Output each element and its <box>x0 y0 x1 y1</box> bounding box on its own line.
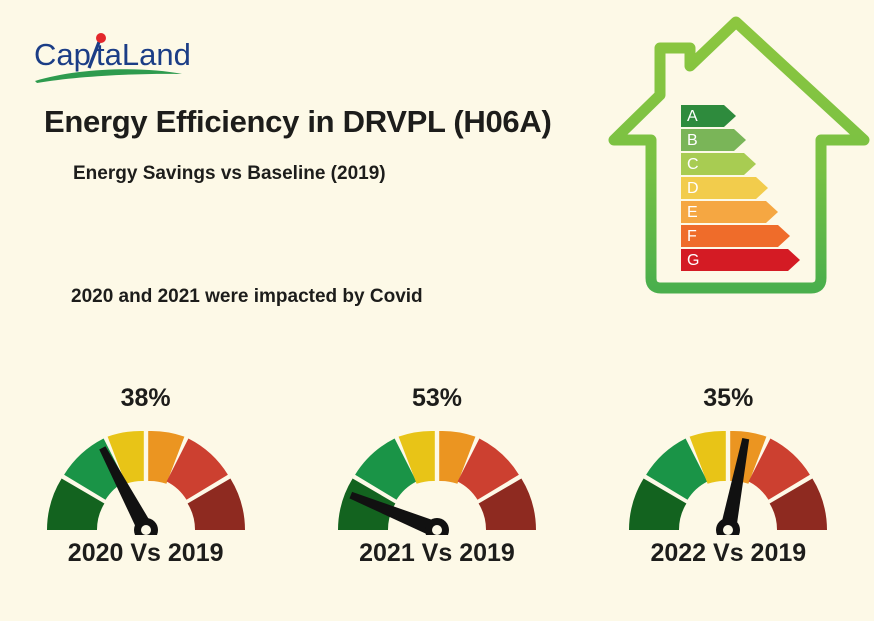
gauge-dial-2021 <box>330 425 544 535</box>
gauge-segments <box>338 431 536 530</box>
gauge-dial-2022 <box>621 425 835 535</box>
gauge-hub-center <box>432 525 442 535</box>
slide-canvas: Cap taLand Energy Efficiency in DRVPL (H… <box>0 0 874 621</box>
page-subtitle: Energy Savings vs Baseline (2019) <box>73 163 386 185</box>
grade-bar-g: G <box>681 249 800 271</box>
gauge-2022: 35% <box>583 386 873 568</box>
gauge-row: 38% <box>0 386 874 596</box>
grade-bar-f: F <box>681 225 790 247</box>
grade-letter-c: C <box>687 156 699 173</box>
grade-letter-a: A <box>687 108 698 125</box>
grade-letter-e: E <box>687 204 698 221</box>
grade-letter-f: F <box>687 228 697 245</box>
grade-bar-d: D <box>681 177 768 199</box>
energy-grade-bars: A B C D E <box>681 105 800 271</box>
grade-bar-c: C <box>681 153 756 175</box>
gauge-hub-center <box>141 525 151 535</box>
gauge-hub-center <box>723 525 733 535</box>
gauge-2021: 53% <box>292 386 582 568</box>
logo-dot-icon <box>96 33 106 43</box>
gauge-label-2020: 2020 Vs 2019 <box>68 539 224 568</box>
grade-letter-b: B <box>687 132 698 149</box>
gauge-value-2021: 53% <box>412 386 462 411</box>
grade-bar-e: E <box>681 201 778 223</box>
grade-letter-d: D <box>687 180 699 197</box>
gauge-value-2020: 38% <box>121 386 171 411</box>
energy-label-house-icon: A B C D E <box>608 16 870 304</box>
gauge-label-2021: 2021 Vs 2019 <box>359 539 515 568</box>
grade-letter-g: G <box>687 252 699 269</box>
logo-text-2: taLand <box>96 37 191 72</box>
logo-text: Cap <box>34 37 91 72</box>
grade-bar-a: A <box>681 105 736 127</box>
gauge-value-2022: 35% <box>703 386 753 411</box>
grade-bar-b: B <box>681 129 746 151</box>
capitaland-logo: Cap taLand <box>32 32 207 84</box>
gauge-2020: 38% <box>1 386 291 568</box>
page-title: Energy Efficiency in DRVPL (H06A) <box>44 104 552 140</box>
gauge-label-2022: 2022 Vs 2019 <box>650 539 806 568</box>
gauge-dial-2020 <box>39 425 253 535</box>
covid-note: 2020 and 2021 were impacted by Covid <box>71 286 423 308</box>
